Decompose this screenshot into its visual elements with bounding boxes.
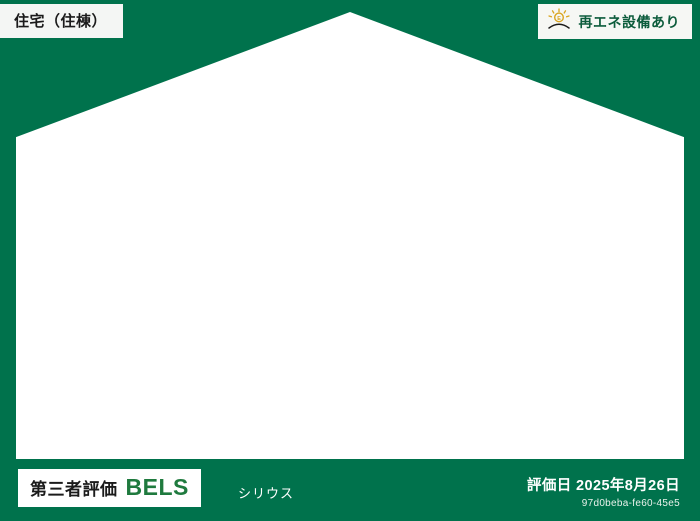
solar-sun-icon: E (546, 8, 572, 35)
renewable-energy-label: 再エネ設備あり (579, 12, 681, 32)
bels-chip: 第三者評価 BELS (18, 469, 201, 507)
evaluation-date: 評価日 2025年8月26日 (527, 474, 680, 495)
label-footer: 第三者評価 BELS シリウス 評価日 2025年8月26日 97d0beba-… (0, 459, 700, 521)
bels-energy-label: 住宅（住棟） E 再エネ設備あり 建築物省エネ法に基づく 省エネ性能ラベル (0, 0, 700, 521)
bels-subtitle: シリウス (238, 483, 294, 502)
svg-text:E: E (557, 16, 561, 22)
renewable-energy-badge: E 再エネ設備あり (538, 4, 693, 39)
footer-meta: 評価日 2025年8月26日 97d0beba-fe60-45e5 (527, 474, 680, 509)
label-uid: 97d0beba-fe60-45e5 (527, 498, 680, 509)
category-chip: 住宅（住棟） (0, 4, 123, 38)
bels-jp-label: 第三者評価 (30, 475, 118, 500)
bels-en-label: BELS (126, 474, 189, 501)
